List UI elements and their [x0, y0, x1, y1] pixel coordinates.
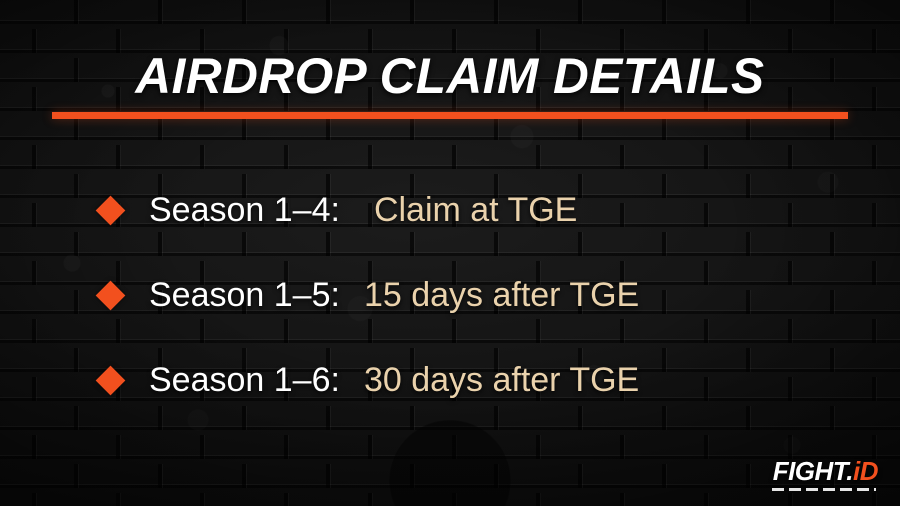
- details-list: Season 1–4: Claim at TGE Season 1–5: 15 …: [0, 168, 900, 423]
- diamond-bullet-icon: [96, 281, 126, 311]
- season-label: Season 1–4:: [149, 191, 340, 230]
- season-label: Season 1–6:: [149, 361, 340, 400]
- season-label: Season 1–5:: [149, 276, 340, 315]
- title-underline-rule: [52, 112, 848, 119]
- claim-timing-value: 15 days after TGE: [364, 276, 639, 315]
- list-item: Season 1–5: 15 days after TGE: [0, 253, 900, 338]
- claim-timing-value: Claim at TGE: [374, 191, 577, 230]
- slide-root: AIRDROP CLAIM DETAILS Season 1–4: Claim …: [0, 0, 900, 506]
- brand-logo-id: iD: [853, 456, 878, 486]
- list-item: Season 1–4: Claim at TGE: [0, 168, 900, 253]
- brand-logo-underline: [772, 488, 876, 491]
- page-title: AIRDROP CLAIM DETAILS: [5, 47, 896, 105]
- slide-content: AIRDROP CLAIM DETAILS Season 1–4: Claim …: [0, 0, 900, 506]
- brand-logo-dot: .: [846, 456, 853, 486]
- brand-logo: FIGHT.iD: [773, 458, 878, 484]
- claim-timing-value: 30 days after TGE: [364, 361, 639, 400]
- diamond-bullet-icon: [96, 196, 126, 226]
- diamond-bullet-icon: [96, 366, 126, 396]
- brand-logo-fight: FIGHT: [773, 456, 847, 486]
- list-item: Season 1–6: 30 days after TGE: [0, 338, 900, 423]
